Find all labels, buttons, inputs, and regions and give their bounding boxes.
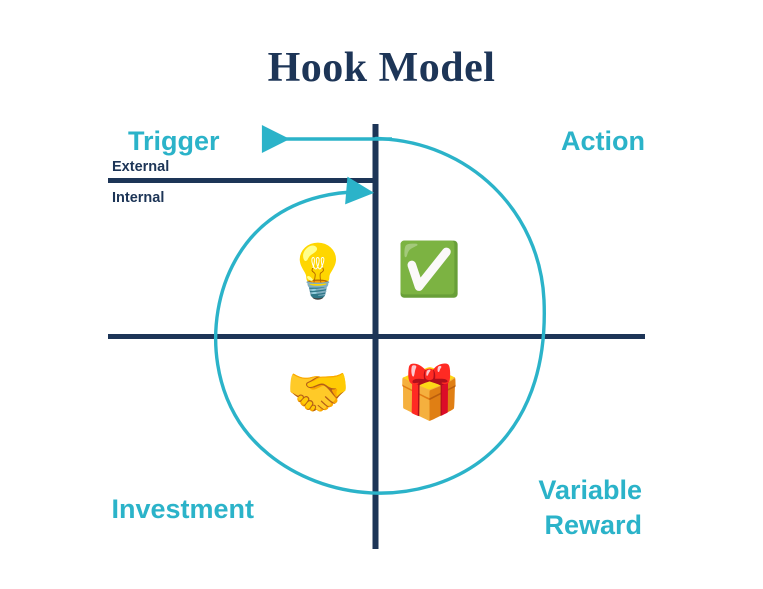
light-bulb-icon: 💡	[283, 246, 353, 298]
quadrant-label-variable-reward: Variable Reward	[430, 473, 642, 542]
page-title: Hook Model	[0, 44, 763, 92]
wrapped-gift-icon: 🎁	[394, 367, 464, 419]
hook-model-diagram: Hook Model Trigger Action Investment Var…	[0, 0, 763, 589]
sub-label-internal: Internal	[112, 190, 164, 206]
handshake-icon: 🤝	[283, 367, 353, 419]
quadrant-label-investment: Investment	[60, 492, 254, 527]
quadrant-label-action: Action	[440, 124, 645, 159]
quadrant-label-trigger: Trigger	[128, 124, 220, 159]
hook-loop-arrow	[216, 139, 545, 494]
sub-label-external: External	[112, 159, 169, 175]
check-mark-button-icon: ✅	[394, 244, 464, 296]
